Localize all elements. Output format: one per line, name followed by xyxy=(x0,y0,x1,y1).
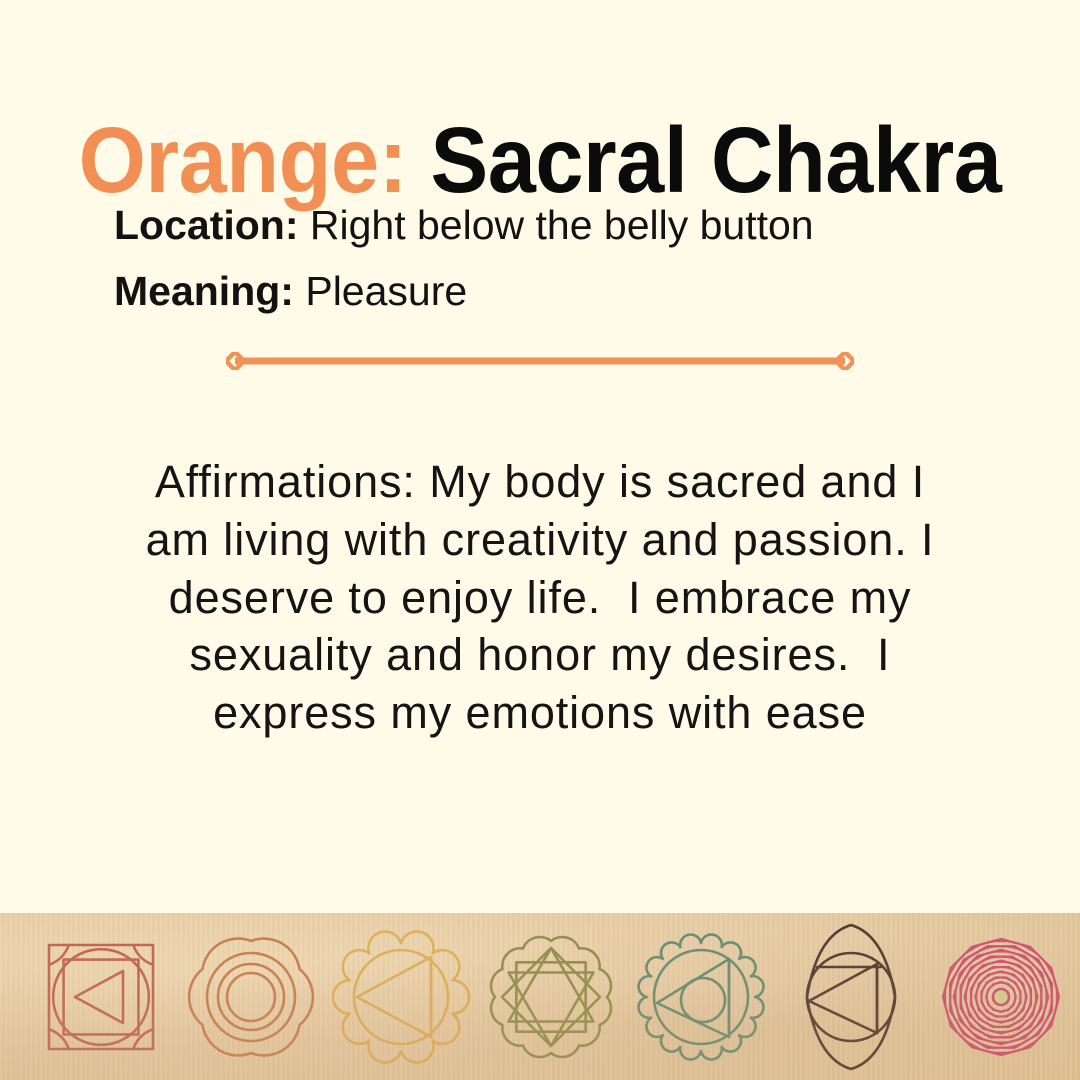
sacral-chakra-icon xyxy=(176,922,326,1072)
card-content: Orange: Sacral Chakra Location: Right be… xyxy=(0,0,1080,913)
attribute-row-location: Location: Right below the belly button xyxy=(114,192,814,258)
chakra-symbol-row xyxy=(0,913,1080,1080)
heart-chakra-icon xyxy=(476,922,626,1072)
affirmation-text: Affirmations: My body is sacred and I am… xyxy=(140,453,940,742)
location-value: Right below the belly button xyxy=(310,202,814,248)
third-eye-chakra-icon xyxy=(776,922,926,1072)
meaning-value: Pleasure xyxy=(305,268,467,314)
attribute-row-meaning: Meaning: Pleasure xyxy=(114,258,814,324)
attribute-list: Location: Right below the belly button M… xyxy=(114,192,814,325)
location-label: Location: xyxy=(114,202,298,248)
throat-chakra-icon xyxy=(626,922,776,1072)
chakra-info-card: Orange: Sacral Chakra Location: Right be… xyxy=(0,0,1080,1080)
chakra-symbol-strip xyxy=(0,913,1080,1080)
divider-ornament xyxy=(226,352,854,370)
root-chakra-icon xyxy=(26,922,176,1072)
solar-plexus-chakra-icon xyxy=(326,922,476,1072)
meaning-label: Meaning: xyxy=(114,268,294,314)
crown-chakra-icon xyxy=(926,922,1076,1072)
